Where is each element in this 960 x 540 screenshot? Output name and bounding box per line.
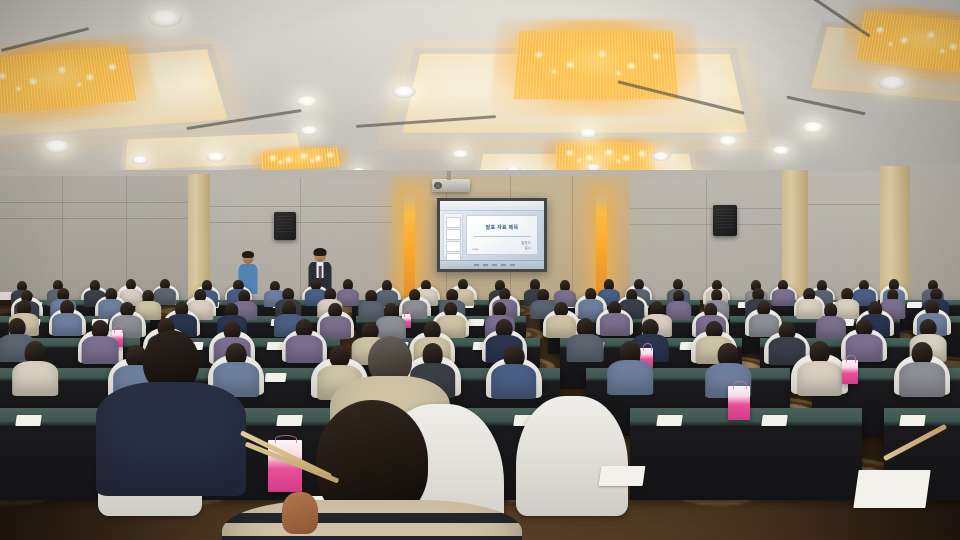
ceiling-projector [432,179,470,192]
downlight [652,152,670,161]
downlight [578,128,598,138]
audience-body [816,316,846,339]
audience-member [567,318,604,365]
slide-logo: logo [473,247,479,251]
presenter-tie [319,266,322,279]
chandelier-left-large [0,45,136,116]
wall-seam [210,206,392,207]
audience-member [607,341,653,399]
audience-body [607,360,653,395]
wall-seam [0,202,188,203]
slide-subtitle-line1: 발표자 [521,240,530,245]
hand [282,492,318,534]
presenter-hair [314,248,327,256]
conference-tote-bag [842,360,858,384]
audience-member [899,342,945,400]
downlight [148,10,182,27]
bag-handle [733,381,747,389]
chandelier-right-edge [856,10,960,75]
downlight [878,76,906,90]
audience-body [600,313,630,336]
downlight [718,136,738,146]
handout-paper [853,470,930,508]
slide-divider [474,236,530,237]
downlight [132,156,148,164]
downlight [300,126,318,135]
wall-speaker-left [274,212,296,240]
audience-member [816,303,846,341]
amber-light-strip-left [404,194,415,302]
handout-paper [467,319,484,326]
downlight [802,122,824,133]
covered-chair [516,396,628,516]
wall-seam [0,218,188,219]
downlight [44,140,70,153]
audience-member [12,341,58,399]
audience-member [797,341,843,399]
conference-room-photo: 발표 자료 제목 발표자 일시 logo [0,0,960,540]
audience-member [491,345,537,403]
downlight [392,86,416,98]
projection-screen: 발표 자료 제목 발표자 일시 logo [437,198,547,272]
handout-paper [899,415,925,426]
downlight [452,150,469,158]
slide-canvas: 발표 자료 제목 발표자 일시 logo [466,215,538,255]
audience-body [567,334,604,362]
audience-body [899,362,945,397]
handout-paper [599,466,646,486]
bag-handle [846,355,857,363]
slide-title: 발표 자료 제목 [473,224,532,231]
audience-body [491,364,537,399]
audience-member [600,301,630,339]
audience-body [797,361,843,396]
conference-tote-bag [728,386,750,420]
handout-paper [656,415,682,426]
audience-body [12,361,58,396]
audience-member [52,300,82,338]
slide-app-statusbar [440,260,544,269]
handout-paper [761,415,787,426]
downlight [296,96,318,107]
downlight [772,146,790,155]
handout-paper [264,373,286,382]
presenter-hair [242,251,254,258]
wall-seam [808,204,880,205]
handout-paper [16,415,42,426]
wall-speaker-right [713,205,737,236]
screen-surface: 발표 자료 제목 발표자 일시 logo [440,201,544,269]
slide-subtitle-line2: 일시 [524,245,530,250]
chandelier-left-rear [262,147,341,171]
audience-body [52,313,82,336]
foreground-attendee [222,400,522,540]
wall-seam [210,222,392,223]
slide-app-toolbar [440,201,544,211]
foreground-body [222,500,522,540]
downlight [206,152,226,162]
slide-thumbnail-rail [443,213,463,258]
chandelier-center-rear [555,143,655,172]
